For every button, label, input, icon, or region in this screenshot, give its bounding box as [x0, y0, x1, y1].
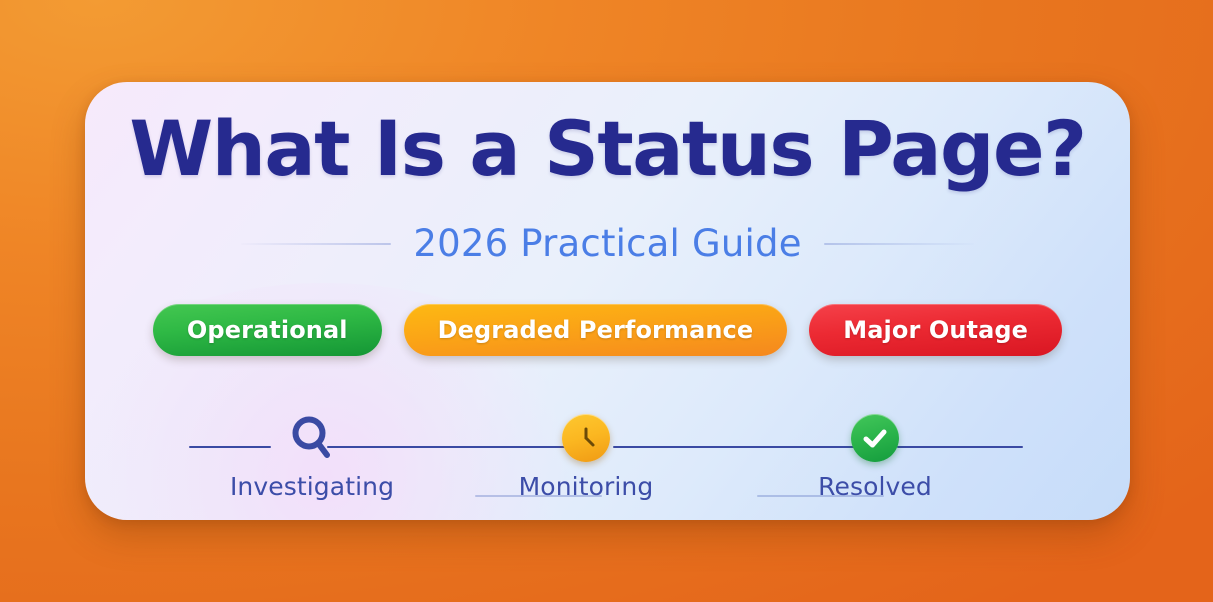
- timeline-step-resolved[interactable]: Resolved: [800, 410, 950, 501]
- incident-timeline: Investigating Monitoring: [85, 394, 1130, 514]
- hero-card: What Is a Status Page? 2026 Practical Gu…: [85, 82, 1130, 520]
- status-badge-group: Operational Degraded Performance Major O…: [85, 304, 1130, 356]
- timeline-label-connector-1: [475, 495, 602, 497]
- status-badge-degraded-performance[interactable]: Degraded Performance: [404, 304, 788, 356]
- clock-icon: [558, 410, 614, 466]
- page-subtitle: 2026 Practical Guide: [413, 222, 801, 265]
- page-title: What Is a Status Page?: [85, 110, 1130, 188]
- timeline-label-connector-2: [757, 495, 884, 497]
- subtitle-row: 2026 Practical Guide: [85, 222, 1130, 265]
- timeline-step-monitoring[interactable]: Monitoring: [511, 410, 661, 501]
- subtitle-rule-left: [241, 243, 391, 245]
- timeline-label-investigating: Investigating: [230, 472, 394, 501]
- status-badge-major-outage[interactable]: Major Outage: [809, 304, 1062, 356]
- magnifying-glass-icon: [284, 410, 340, 466]
- timeline-step-investigating[interactable]: Investigating: [237, 410, 387, 501]
- status-badge-operational[interactable]: Operational: [153, 304, 382, 356]
- hero-card-inner: What Is a Status Page? 2026 Practical Gu…: [85, 82, 1130, 520]
- subtitle-rule-right: [824, 243, 974, 245]
- check-circle-icon: [847, 410, 903, 466]
